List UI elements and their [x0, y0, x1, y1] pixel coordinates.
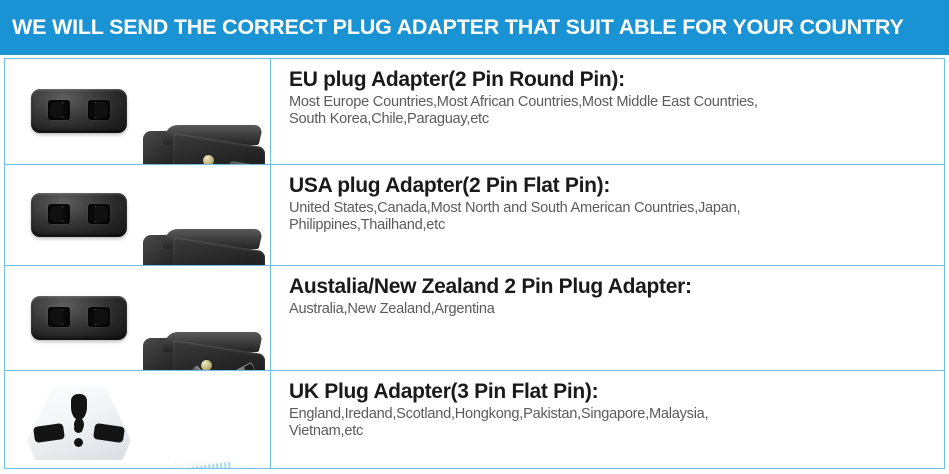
adapter-title: EU plug Adapter(2 Pin Round Pin): — [289, 68, 938, 92]
eu-adapter-angled-round-pins-icon — [143, 125, 268, 164]
adapter-description: Australia,New Zealand,Argentina — [289, 301, 938, 319]
adapter-title: UK Plug Adapter(3 Pin Flat Pin): — [289, 380, 938, 404]
usa-adapter-angled-flat-pins-icon — [143, 229, 268, 265]
usa-adapter-front-face-icon — [31, 193, 127, 237]
plug-adapter-info-table: WE WILL SEND THE CORRECT PLUG ADAPTER TH… — [0, 0, 949, 474]
banner-title: WE WILL SEND THE CORRECT PLUG ADAPTER TH… — [12, 15, 904, 40]
uk-adapter-universal-socket-face-icon — [27, 378, 131, 460]
adapter-description-line-1: Australia,New Zealand,Argentina — [289, 301, 495, 317]
adapter-title: Austalia/New Zealand 2 Pin Plug Adapter: — [289, 275, 938, 299]
adapter-description: United States,Canada,Most North and Sout… — [289, 200, 938, 236]
au-plug-images — [13, 266, 270, 370]
eu-adapter-front-face-icon — [31, 89, 127, 133]
adapter-text-cell-eu: EU plug Adapter(2 Pin Round Pin): Most E… — [271, 59, 944, 164]
au-adapter-front-face-icon — [31, 296, 127, 340]
adapter-description-line-1: Most Europe Countries,Most African Count… — [289, 94, 758, 110]
table-row: UK Plug Adapter(3 Pin Flat Pin): England… — [5, 371, 944, 468]
adapter-image-cell-eu — [5, 59, 271, 164]
uk-adapter-angled-three-brass-pins-icon — [147, 459, 259, 468]
adapter-description: England,Iredand,Scotland,Hongkong,Pakist… — [289, 406, 938, 442]
adapter-description-line-2: South Korea,Chile,Paraguay,etc — [289, 111, 489, 127]
adapter-description-line-2: Philippines,Thailhand,etc — [289, 217, 445, 233]
adapter-table: EU plug Adapter(2 Pin Round Pin): Most E… — [4, 58, 945, 469]
adapter-description-line-1: England,Iredand,Scotland,Hongkong,Pakist… — [289, 406, 708, 422]
au-adapter-angled-v-pins-icon — [143, 332, 268, 370]
eu-plug-images — [13, 59, 270, 164]
adapter-image-cell-au — [5, 266, 271, 370]
adapter-image-cell-uk — [5, 371, 271, 468]
adapter-text-cell-uk: UK Plug Adapter(3 Pin Flat Pin): England… — [271, 371, 944, 468]
adapter-title: USA plug Adapter(2 Pin Flat Pin): — [289, 174, 938, 198]
header-banner: WE WILL SEND THE CORRECT PLUG ADAPTER TH… — [0, 0, 949, 55]
table-row: USA plug Adapter(2 Pin Flat Pin): United… — [5, 165, 944, 266]
adapter-description-line-1: United States,Canada,Most North and Sout… — [289, 200, 740, 216]
table-row: Austalia/New Zealand 2 Pin Plug Adapter:… — [5, 266, 944, 371]
adapter-image-cell-usa — [5, 165, 271, 265]
adapter-description: Most Europe Countries,Most African Count… — [289, 94, 938, 130]
adapter-text-cell-au: Austalia/New Zealand 2 Pin Plug Adapter:… — [271, 266, 944, 370]
usa-plug-images — [13, 165, 270, 265]
adapter-text-cell-usa: USA plug Adapter(2 Pin Flat Pin): United… — [271, 165, 944, 265]
adapter-description-line-2: Vietnam,etc — [289, 423, 363, 439]
table-row: EU plug Adapter(2 Pin Round Pin): Most E… — [5, 59, 944, 165]
uk-plug-images — [13, 371, 270, 468]
